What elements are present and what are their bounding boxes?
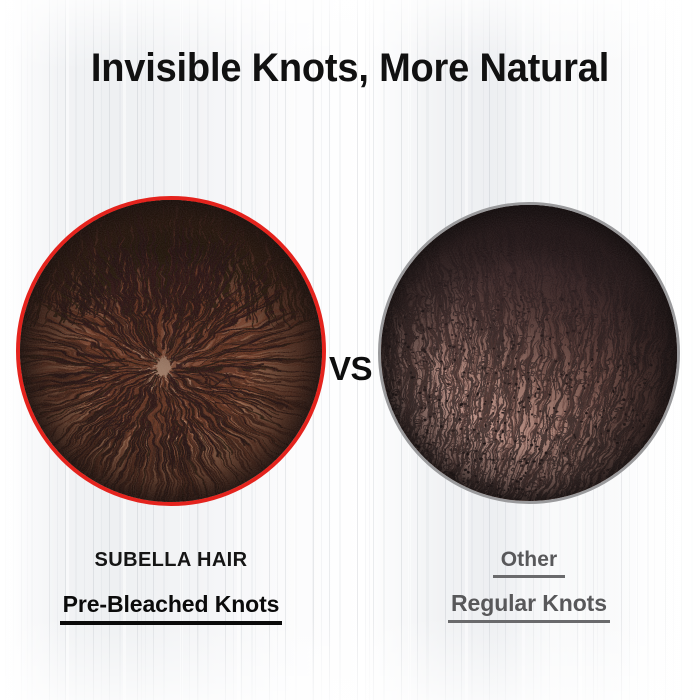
product-comparison-image: Invisible Knots, More Natural [0, 0, 700, 700]
caption-left-knots-text: Pre-Bleached Knots [60, 591, 283, 625]
vs-label: VS [329, 350, 372, 388]
caption-left-knots: Pre-Bleached Knots [16, 591, 326, 625]
comparison-image-left-prebleached [16, 196, 326, 506]
caption-right-knots-text: Regular Knots [448, 590, 610, 623]
caption-right-brand: Other [378, 548, 680, 578]
page-title: Invisible Knots, More Natural [18, 46, 683, 91]
lace-regularknots-illustration [381, 205, 677, 501]
caption-right-brand-text: Other [493, 548, 566, 578]
caption-left-brand-text: SUBELLA HAIR [95, 549, 248, 571]
scalp-prebleached-illustration [20, 200, 322, 502]
comparison-image-right-regularknots [378, 202, 680, 504]
caption-right-knots: Regular Knots [378, 590, 680, 623]
caption-left-brand: SUBELLA HAIR [16, 549, 326, 572]
